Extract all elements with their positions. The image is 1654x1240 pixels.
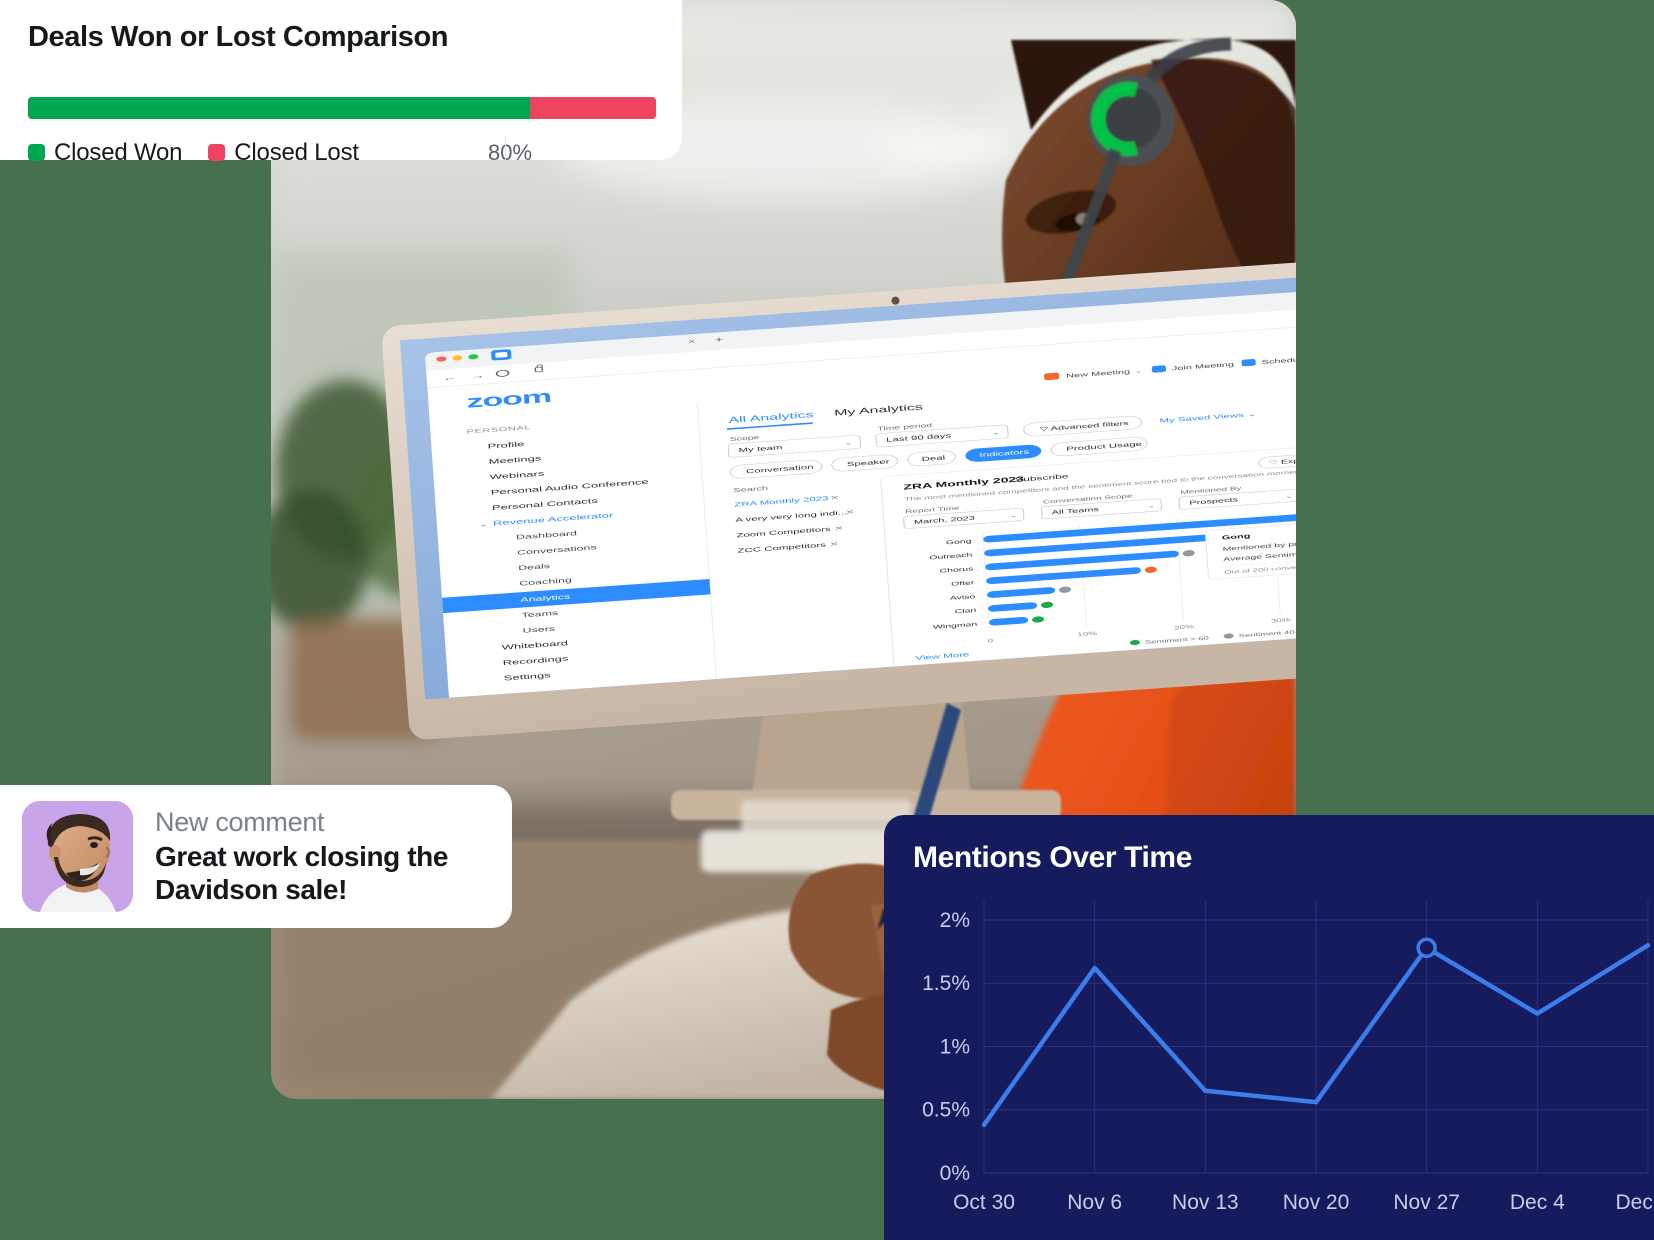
x-axis-tick-label: Nov 20 [1283, 1191, 1350, 1214]
comment-body: Great work closing the Davidson sale! [155, 840, 490, 906]
mentions-over-time-card: Mentions Over Time 0%0.5%1%1.5%2%Oct 30N… [884, 815, 1654, 1240]
data-point-marker[interactable] [1418, 939, 1435, 956]
x-axis-tick-label: Dec 4 [1510, 1191, 1565, 1214]
mentions-line-chart: 0%0.5%1%1.5%2%Oct 30Nov 6Nov 13Nov 20Nov… [910, 889, 1654, 1219]
svg-text:×: × [688, 338, 696, 346]
legend-item-closed-lost: Closed Lost [208, 139, 359, 167]
legend-swatch-closed-won [28, 144, 45, 161]
svg-text:←: ← [443, 374, 457, 383]
svg-text:⌄: ⌄ [992, 429, 1001, 435]
y-axis-tick-label: 1% [940, 1035, 970, 1058]
deals-bar-closed-lost [530, 97, 656, 119]
svg-text:→: → [470, 372, 484, 381]
x-axis-tick-label: Nov 27 [1393, 1191, 1460, 1214]
avatar [22, 801, 133, 912]
deals-comparison-card: Deals Won or Lost Comparison Closed Won … [0, 0, 682, 160]
svg-text:⌄: ⌄ [479, 521, 489, 528]
y-axis-tick-label: 0% [940, 1162, 970, 1185]
deals-legend: Closed Won Closed Lost 80% [28, 139, 656, 167]
comment-text: New comment Great work closing the David… [155, 807, 490, 905]
deals-progress-bar [28, 97, 656, 119]
deals-card-title: Deals Won or Lost Comparison [28, 22, 654, 54]
legend-label-closed-lost: Closed Lost [234, 139, 359, 167]
avatar-photo [22, 801, 133, 912]
svg-text:⌄: ⌄ [1134, 367, 1144, 374]
y-axis-tick-label: 2% [940, 909, 970, 932]
legend-item-closed-won: Closed Won [28, 139, 182, 167]
x-axis-tick-label: Oct 30 [953, 1191, 1015, 1214]
svg-text:⌄: ⌄ [1147, 503, 1155, 509]
svg-text:✕: ✕ [845, 509, 855, 516]
svg-text:⌄: ⌄ [1285, 494, 1293, 500]
zoom-dashboard-screenshot: × + ← → zoom PERSONAL [400, 268, 1296, 699]
deals-bar-tick [505, 135, 506, 160]
svg-text:⌄: ⌄ [844, 440, 853, 446]
x-axis-tick-label: Dec 11 [1616, 1191, 1654, 1214]
x-axis-tick-label: Nov 13 [1172, 1191, 1239, 1214]
mentions-chart-svg: 0%0.5%1%1.5%2%Oct 30Nov 6Nov 13Nov 20Nov… [910, 889, 1654, 1219]
new-comment-card[interactable]: New comment Great work closing the David… [0, 785, 512, 928]
svg-text:✕: ✕ [830, 494, 840, 501]
x-axis-tick-label: Nov 6 [1067, 1191, 1122, 1214]
legend-swatch-closed-lost [208, 144, 225, 161]
deals-percent-label: 80% [488, 140, 532, 166]
mentions-card-title: Mentions Over Time [913, 841, 1654, 875]
comment-kicker: New comment [155, 807, 490, 837]
svg-text:✕: ✕ [834, 525, 844, 532]
y-axis-tick-label: 1.5% [922, 972, 970, 995]
svg-text:⌄: ⌄ [1010, 513, 1018, 519]
deals-bar-closed-won [28, 97, 530, 119]
legend-label-closed-won: Closed Won [54, 139, 182, 167]
svg-text:+: + [714, 335, 723, 345]
svg-text:✕: ✕ [829, 541, 839, 548]
y-axis-tick-label: 0.5% [922, 1099, 970, 1122]
